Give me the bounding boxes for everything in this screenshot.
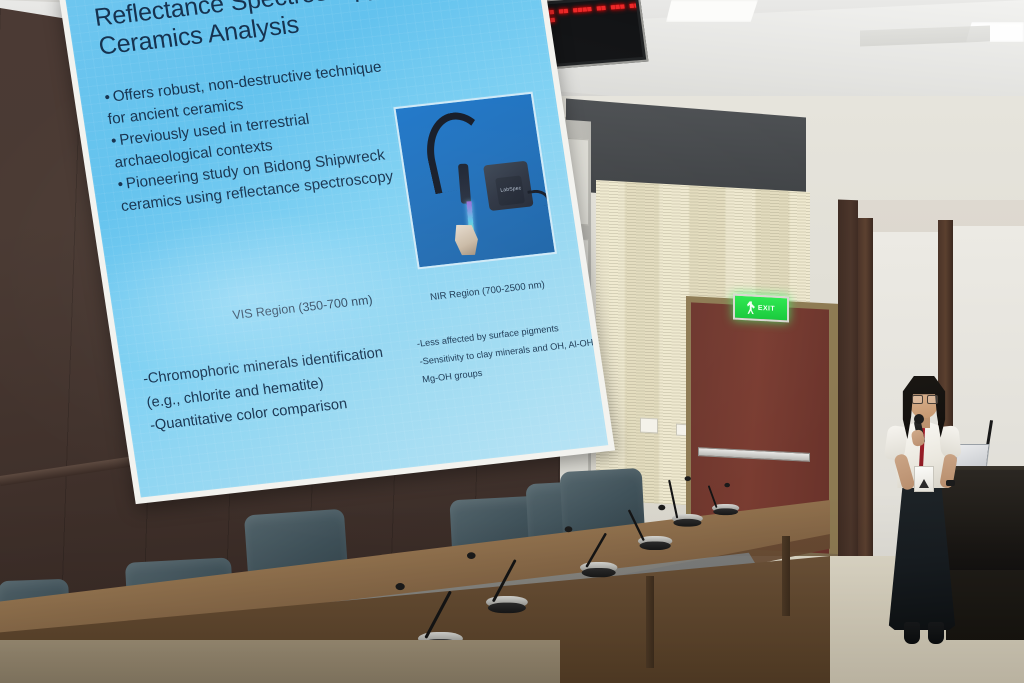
vis-region-column: -Chromophoric minerals identification (e…	[142, 339, 421, 439]
projection-screen: Reflectance Spectroscopy in Ancient Cera…	[58, 0, 615, 504]
bullet-dot-icon: •	[103, 89, 111, 106]
wall-divider	[858, 218, 873, 578]
presenter-skirt	[886, 478, 958, 630]
ceiling-light-panel	[666, 0, 758, 22]
handheld-microphone-head	[914, 414, 924, 424]
bullet-dot-icon: •	[117, 176, 125, 193]
vis-region-heading: VIS Region (350-700 nm)	[232, 293, 374, 323]
nir-region-heading: NIR Region (700-2500 nm)	[429, 279, 545, 303]
ceramic-sherd-sample	[452, 222, 483, 257]
exit-sign: EXIT	[733, 294, 789, 323]
presenter-glasses	[912, 395, 936, 402]
spectrometer-photo: LabSpec	[393, 92, 557, 270]
conference-room-photo: ■■■ ■■ ■■■■ ■■ ■■■ ■■■■■ ■■ ■■■■ EXIT Re…	[0, 0, 1024, 683]
presenter	[876, 370, 986, 650]
nir-region-column: -Less affected by surface pigments -Sens…	[416, 316, 603, 389]
led-marquee-text: ■■■ ■■ ■■■■ ■■ ■■■ ■■■■■ ■■ ■■■■	[540, 0, 643, 25]
slide-title: Reflectance Spectroscopy in Ancient Cera…	[93, 0, 539, 61]
slide-surface: Reflectance Spectroscopy in Ancient Cera…	[65, 0, 608, 498]
floor-shadow-foreground	[0, 640, 560, 683]
table-leg	[646, 576, 654, 668]
exit-sign-label: EXIT	[758, 304, 775, 312]
bullet-dot-icon: •	[110, 133, 118, 150]
table-leg	[782, 536, 790, 616]
spectrometer-cable	[527, 188, 550, 207]
wall-switch-plate[interactable]	[640, 418, 658, 434]
slide-bullet-list: •Offers robust, non-destructive techniqu…	[103, 54, 421, 218]
presenter-wristwatch	[946, 480, 955, 486]
presenter-boot	[904, 622, 920, 644]
running-man-icon	[747, 301, 755, 314]
presenter-name-badge	[914, 466, 934, 492]
presenter-boot	[928, 622, 944, 644]
